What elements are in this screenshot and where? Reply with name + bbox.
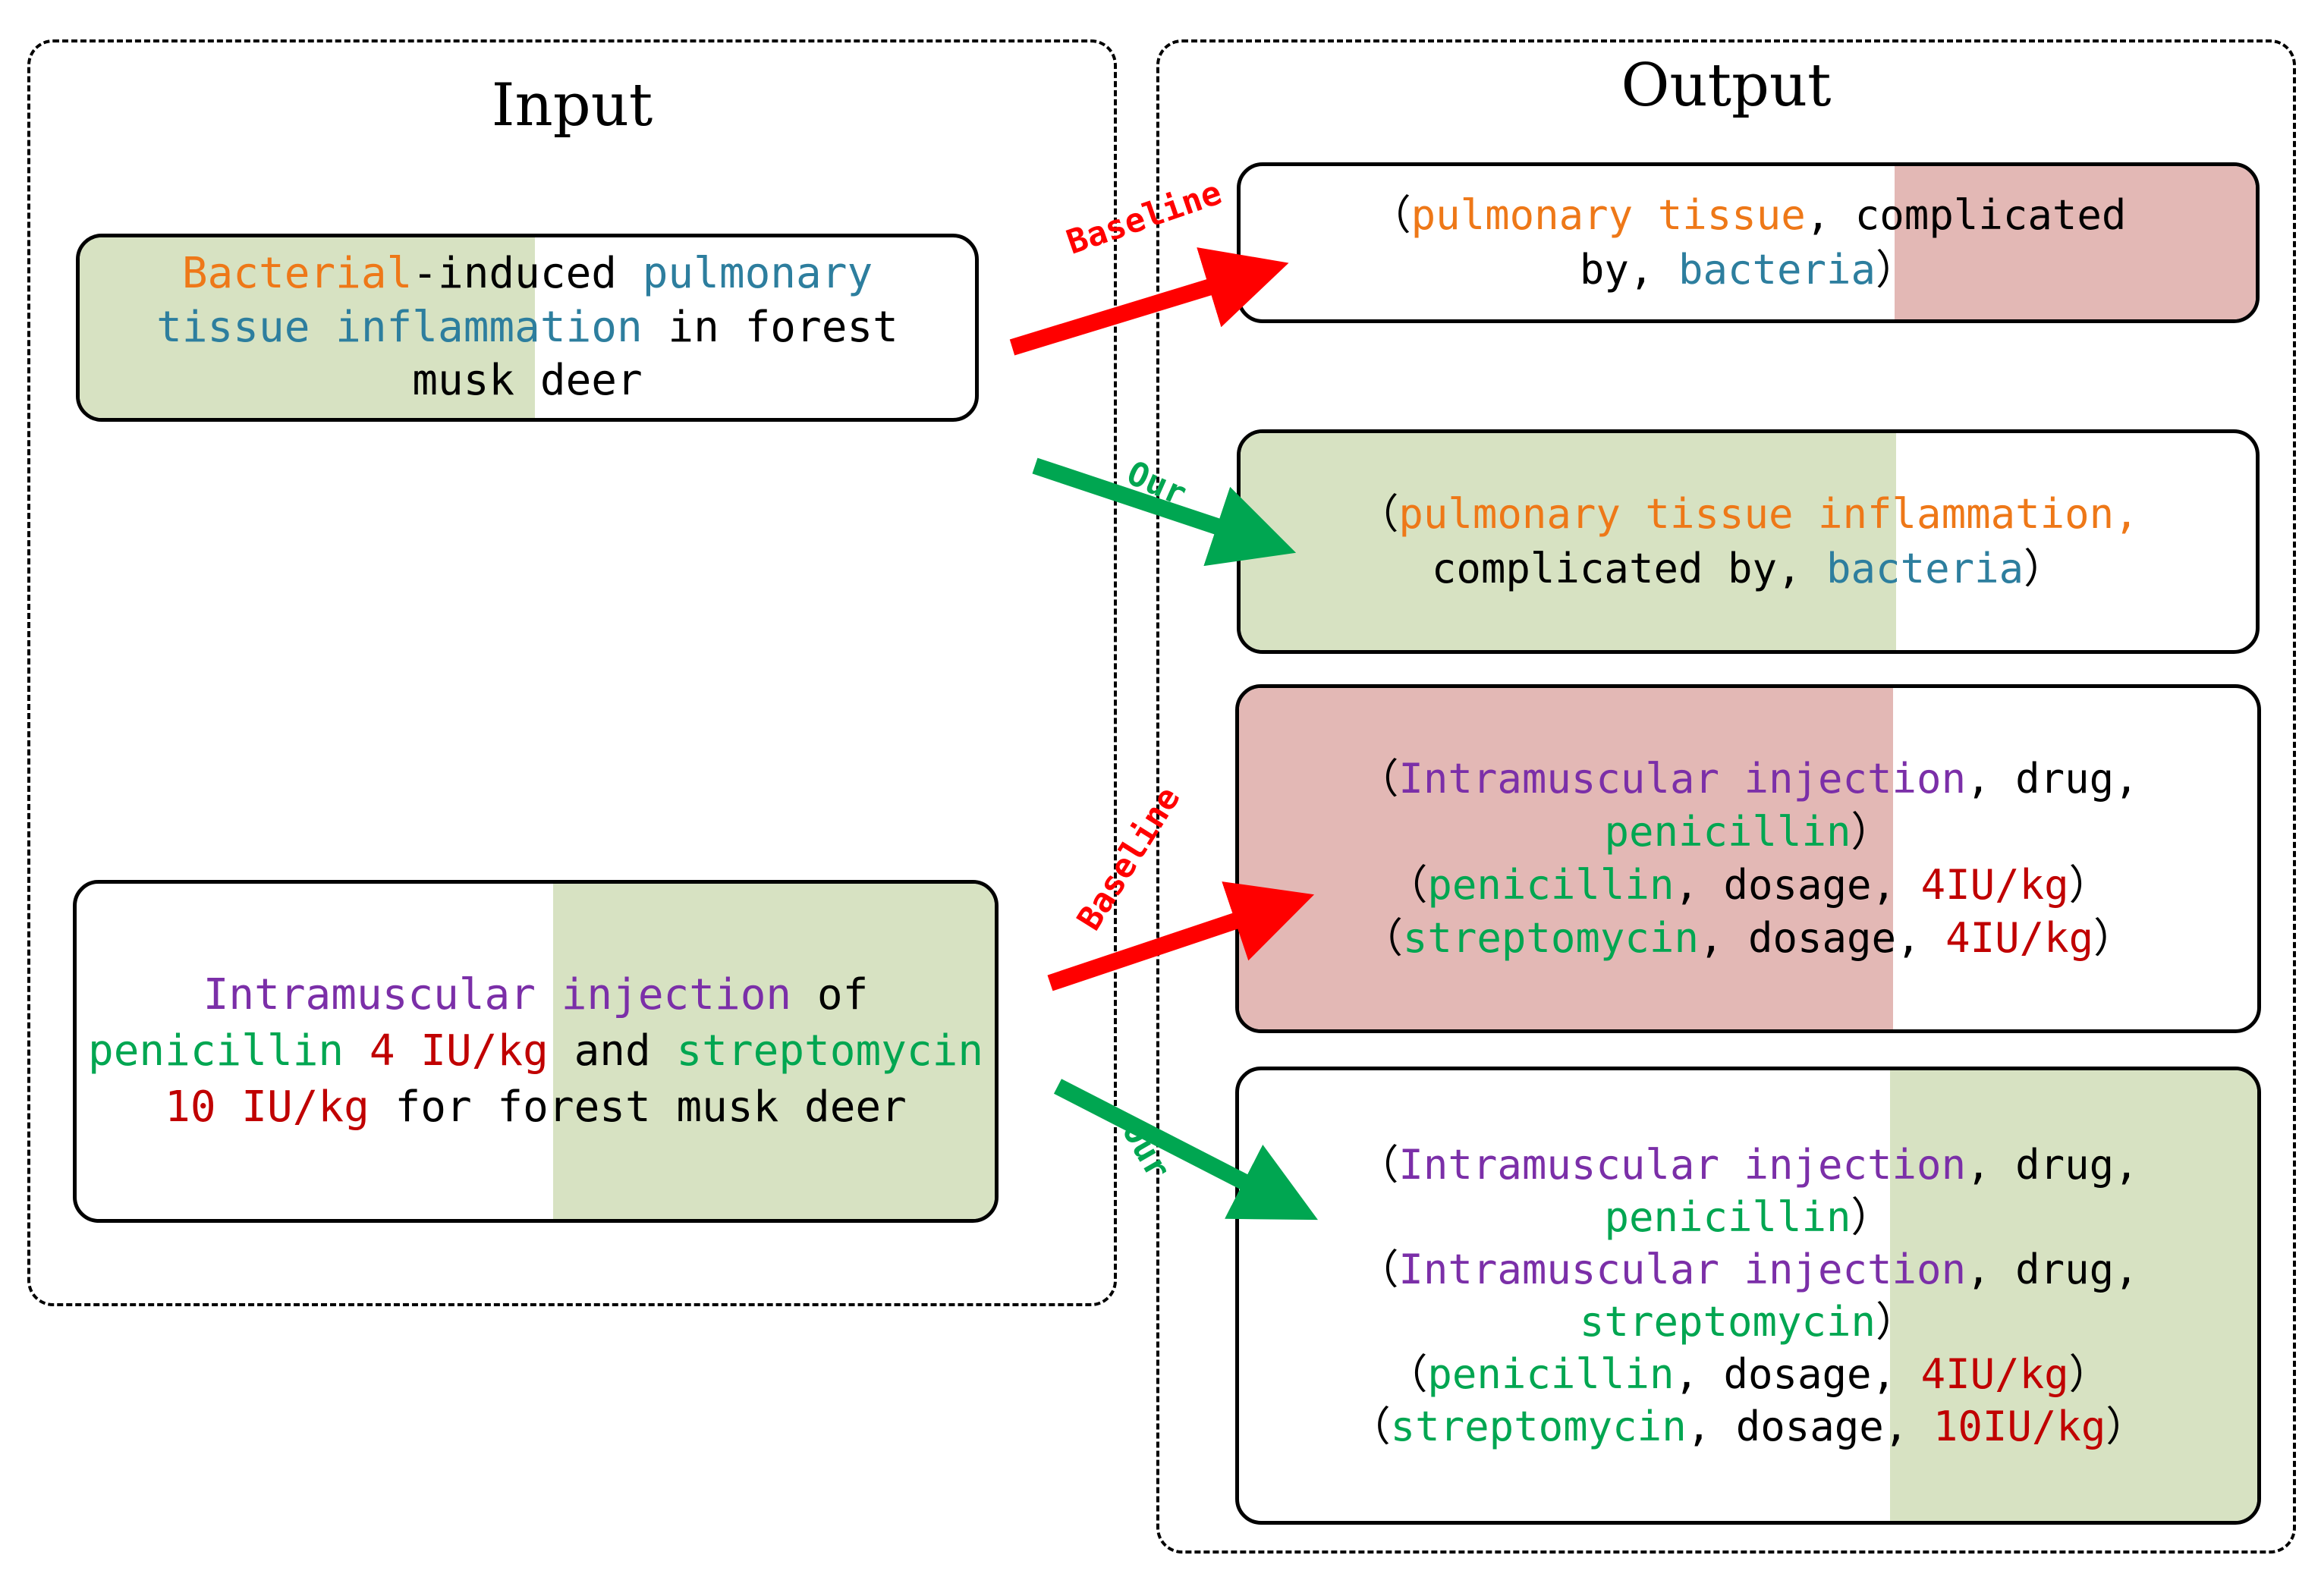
input-sentence-card-2: Intramuscular injection ofpenicillin 4 I…: [73, 880, 999, 1223]
text-span: , drug,: [1966, 1141, 2139, 1189]
output-card-baseline-1: （pulmonary tissue, complicatedby, bacter…: [1237, 162, 2260, 323]
text-span: （: [1386, 1350, 1427, 1398]
text-span: musk deer: [412, 356, 642, 405]
text-span: （: [1357, 490, 1398, 538]
text-span: Intramuscular injection: [203, 970, 791, 1019]
text-span: , dosage,: [1687, 1403, 1933, 1450]
text-line: （penicillin, dosage, 4IU/kg）: [1386, 1348, 2109, 1400]
text-span: bacteria: [1678, 246, 1876, 294]
text-line: Intramuscular injection of: [203, 967, 869, 1023]
text-span: of: [791, 970, 868, 1019]
text-span: penicillin: [1427, 1350, 1674, 1398]
text-span: bacteria: [1826, 545, 2024, 592]
text-span: ）: [2106, 1403, 2146, 1450]
text-line: penicillin 4 IU/kg and streptomycin: [88, 1023, 983, 1079]
text-span: ）: [2069, 1350, 2110, 1398]
text-span: Intramuscular injection: [1398, 1141, 1966, 1189]
text-span: 4IU/kg: [1921, 1350, 2069, 1398]
text-span: , dosage,: [1674, 1350, 1920, 1398]
text-line: streptomycin）: [1580, 1296, 1917, 1348]
text-span: complicated by,: [1432, 545, 1826, 592]
text-span: ）: [2069, 861, 2110, 909]
text-span: ）: [1851, 808, 1892, 856]
output-triples-baseline-2: （Intramuscular injection, drug,penicilli…: [1239, 688, 2257, 1029]
text-line: （Intramuscular injection, drug,: [1357, 1139, 2138, 1191]
text-span: penicillin: [1604, 808, 1851, 856]
text-span: pulmonary tissue: [1411, 191, 1806, 239]
text-line: （pulmonary tissue, complicated: [1370, 188, 2127, 243]
text-line: tissue inflammation in forest: [156, 301, 898, 355]
input-sentence-text-2: Intramuscular injection ofpenicillin 4 I…: [77, 884, 995, 1219]
text-span: , complicated: [1806, 191, 2127, 239]
text-span: Intramuscular injection: [1398, 1246, 1966, 1293]
text-span: penicillin: [88, 1026, 344, 1076]
text-span: （: [1357, 1141, 1398, 1189]
text-span: , drug,: [1966, 1246, 2139, 1293]
text-line: Bacterial-induced pulmonary: [182, 247, 873, 301]
text-span: pulmonary: [643, 249, 873, 298]
text-span: （: [1357, 755, 1398, 803]
text-span: 10IU/kg: [1933, 1403, 2106, 1450]
output-panel-title: Output: [1159, 56, 2293, 115]
text-line: （Intramuscular injection, drug,: [1357, 1243, 2138, 1296]
text-span: Intramuscular injection: [1398, 755, 1966, 803]
text-span: , drug,: [1966, 755, 2139, 803]
text-line: penicillin）: [1604, 806, 1892, 859]
text-span: Bacterial: [182, 249, 412, 298]
text-span: , dosage,: [1674, 861, 1920, 909]
output-triples-ours-2: （Intramuscular injection, drug,penicilli…: [1239, 1070, 2257, 1521]
text-line: （penicillin, dosage, 4IU/kg）: [1386, 859, 2109, 912]
text-span: by,: [1580, 246, 1678, 294]
text-line: （streptomycin, dosage, 4IU/kg）: [1362, 912, 2134, 965]
text-span: （: [1357, 1246, 1398, 1293]
output-card-ours-2: （Intramuscular injection, drug,penicilli…: [1235, 1067, 2261, 1525]
text-span: ）: [1851, 1193, 1892, 1241]
input-sentence-text-1: Bacterial-induced pulmonarytissue inflam…: [80, 237, 975, 418]
input-sentence-card-1: Bacterial-induced pulmonarytissue inflam…: [76, 234, 979, 422]
output-triples-baseline-1: （pulmonary tissue, complicatedby, bacter…: [1241, 166, 2256, 319]
text-span: 10 IU/kg: [165, 1082, 370, 1132]
text-line: （Intramuscular injection, drug,: [1357, 752, 2138, 806]
text-span: ）: [2024, 545, 2065, 592]
input-panel-title: Input: [30, 76, 1114, 135]
output-triples-ours-1: （pulmonary tissue inflammation,complicat…: [1241, 433, 2256, 650]
text-span: ）: [1876, 246, 1917, 294]
text-line: （pulmonary tissue inflammation,: [1357, 487, 2138, 542]
text-span: 4IU/kg: [1945, 914, 2093, 962]
text-span: 4 IU/kg: [370, 1026, 549, 1076]
text-span: streptomycin: [1391, 1403, 1687, 1450]
text-span: in forest: [643, 303, 898, 352]
text-line: by, bacteria）: [1580, 243, 1917, 297]
text-span: and: [549, 1026, 677, 1076]
text-span: ）: [1876, 1298, 1917, 1346]
text-span: ）: [2093, 914, 2134, 962]
text-span: （: [1386, 861, 1427, 909]
output-card-ours-1: （pulmonary tissue inflammation,complicat…: [1237, 429, 2260, 654]
text-span: streptomycin: [1403, 914, 1699, 962]
text-span: pulmonary tissue inflammation,: [1398, 490, 2138, 538]
text-span: for forest musk deer: [370, 1082, 907, 1132]
text-span: [344, 1026, 370, 1076]
text-span: 4IU/kg: [1921, 861, 2069, 909]
output-card-baseline-2: （Intramuscular injection, drug,penicilli…: [1235, 684, 2261, 1033]
text-span: （: [1370, 191, 1411, 239]
text-span: （: [1362, 914, 1403, 962]
text-span: penicillin: [1604, 1193, 1851, 1241]
text-span: penicillin: [1427, 861, 1674, 909]
text-span: （: [1350, 1403, 1391, 1450]
text-line: musk deer: [412, 354, 642, 408]
text-line: 10 IU/kg for forest musk deer: [165, 1079, 907, 1136]
text-span: , dosage,: [1699, 914, 1945, 962]
text-span: streptomycin: [1580, 1298, 1876, 1346]
text-line: penicillin）: [1604, 1191, 1892, 1243]
text-span: tissue inflammation: [156, 303, 643, 352]
text-span: -induced: [412, 249, 642, 298]
text-line: （streptomycin, dosage, 10IU/kg）: [1350, 1400, 2147, 1453]
text-line: complicated by, bacteria）: [1432, 542, 2065, 596]
text-span: streptomycin: [676, 1026, 983, 1076]
